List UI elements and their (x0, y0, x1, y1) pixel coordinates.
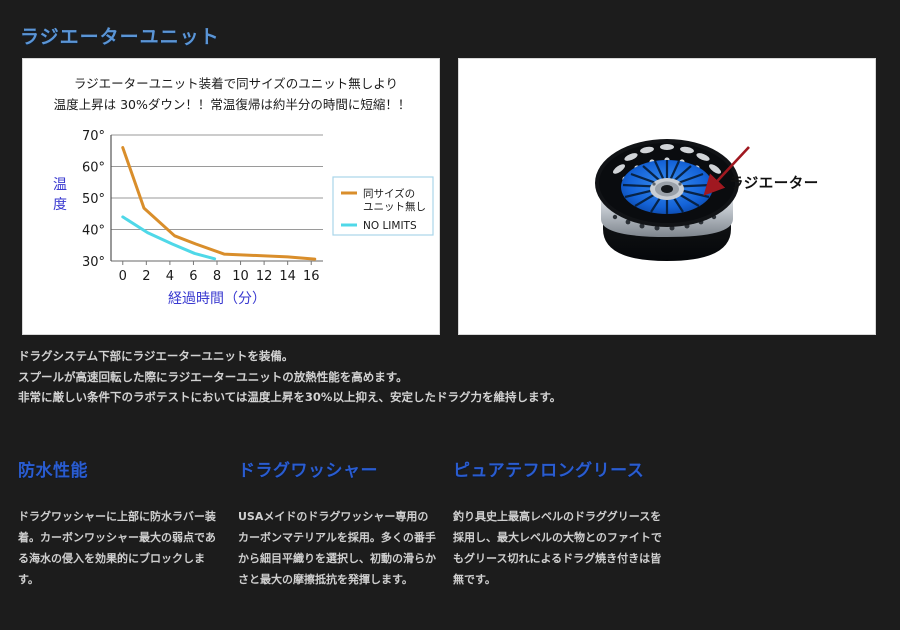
lead-line-1: ドラグシステム下部にラジエーターユニットを装備。 (18, 346, 468, 367)
lead-line-2: スプールが高速回転した際にラジエーターユニットの放熱性能を高めます。 (18, 367, 468, 388)
product-photo: ラジエーター (459, 59, 875, 334)
y-axis-label: 度 (53, 197, 67, 213)
series-line (123, 148, 315, 260)
callout-arrow (459, 59, 875, 334)
x-tick-label: 8 (213, 269, 221, 284)
y-tick-label: 50° (82, 192, 105, 207)
chart-caption-line1: ラジエーターユニット装着で同サイズのユニット無しより (23, 73, 441, 94)
x-axis-label: 経過時間（分） (168, 291, 266, 307)
feature-body: USAメイドのドラグワッシャー専用のカーボンマテリアルを採用。多くの番手から細目… (238, 506, 438, 590)
chart-panel: ラジエーターユニット装着で同サイズのユニット無しより 温度上昇は 30%ダウン！… (22, 58, 440, 335)
product-photo-panel: ラジエーター (458, 58, 876, 335)
feature-heading: 防水性能 (18, 458, 223, 484)
feature-body: ドラグワッシャーに上部に防水ラバー装着。カーボンワッシャー最大の弱点である海水の… (18, 506, 223, 590)
x-tick-label: 10 (232, 269, 249, 284)
temperature-line-chart: 30°40°50°60°70°0246810121416温度経過時間（分）同サイ… (23, 121, 441, 333)
page-root: ラジエーターユニット ラジエーターユニット装着で同サイズのユニット無しより 温度… (0, 0, 900, 630)
y-axis-label: 温 (53, 177, 67, 193)
legend-label: 同サイズの (363, 187, 415, 200)
series-line (123, 217, 215, 259)
x-tick-label: 12 (256, 269, 273, 284)
x-tick-label: 14 (279, 269, 296, 284)
page-title: ラジエーターユニット (20, 22, 220, 49)
feature-body: 釣り具史上最高レベルのドラググリースを採用し、最大レベルの大物とのファイトでもグ… (453, 506, 668, 590)
chart-caption: ラジエーターユニット装着で同サイズのユニット無しより 温度上昇は 30%ダウン！… (23, 73, 441, 115)
radiator-callout-label: ラジエーター (729, 172, 819, 193)
x-tick-label: 16 (303, 269, 320, 284)
x-tick-label: 6 (189, 269, 197, 284)
feature-heading: ピュアテフロングリース (453, 458, 668, 484)
y-tick-label: 70° (82, 129, 105, 144)
x-tick-label: 4 (166, 269, 174, 284)
lead-line-3: 非常に厳しい条件下のラボテストにおいては温度上昇を30%以上抑え、安定したドラグ… (18, 387, 468, 408)
y-tick-label: 40° (82, 224, 105, 239)
x-tick-label: 0 (119, 269, 127, 284)
legend-label: NO LIMITS (363, 220, 417, 232)
feature-column-teflon-grease: ピュアテフロングリース 釣り具史上最高レベルのドラググリースを採用し、最大レベル… (453, 458, 668, 590)
feature-column-waterproof: 防水性能 ドラグワッシャーに上部に防水ラバー装着。カーボンワッシャー最大の弱点で… (18, 458, 223, 590)
feature-heading: ドラグワッシャー (238, 458, 438, 484)
feature-column-drag-washer: ドラグワッシャー USAメイドのドラグワッシャー専用のカーボンマテリアルを採用。… (238, 458, 438, 590)
y-tick-label: 60° (82, 161, 105, 176)
y-tick-label: 30° (82, 255, 105, 270)
legend-label: ユニット無し (363, 200, 426, 213)
x-tick-label: 2 (142, 269, 150, 284)
chart-caption-line2: 温度上昇は 30%ダウン！！常温復帰は約半分の時間に短縮！！ (23, 94, 441, 115)
lead-paragraph: ドラグシステム下部にラジエーターユニットを装備。 スプールが高速回転した際にラジ… (18, 346, 468, 408)
